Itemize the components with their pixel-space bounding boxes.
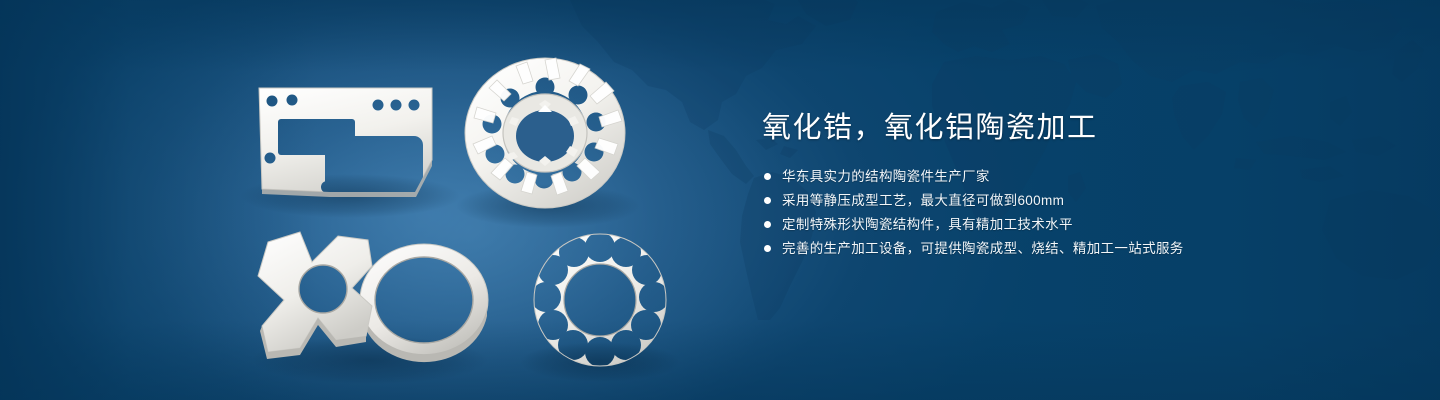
- page-title: 氧化锆，氧化铝陶瓷加工: [762, 108, 1382, 148]
- list-item: 完善的生产加工设备，可提供陶瓷成型、烧结、精加工一站式服务: [762, 237, 1382, 260]
- banner-copy: 氧化锆，氧化铝陶瓷加工 华东具实力的结构陶瓷件生产厂家 采用等静压成型工艺，最大…: [762, 108, 1382, 261]
- bullet-dot-icon: [764, 221, 771, 228]
- bullet-dot-icon: [764, 245, 771, 252]
- list-item: 定制特殊形状陶瓷结构件，具有精加工技术水平: [762, 213, 1382, 236]
- feature-list: 华东具实力的结构陶瓷件生产厂家 采用等静压成型工艺，最大直径可做到600mm 定…: [762, 165, 1382, 260]
- feature-text: 华东具实力的结构陶瓷件生产厂家: [782, 165, 990, 188]
- product-banner: 氧化锆，氧化铝陶瓷加工 华东具实力的结构陶瓷件生产厂家 采用等静压成型工艺，最大…: [0, 0, 1440, 400]
- list-item: 华东具实力的结构陶瓷件生产厂家: [762, 165, 1382, 188]
- bullet-dot-icon: [764, 173, 771, 180]
- feature-text: 定制特殊形状陶瓷结构件，具有精加工技术水平: [782, 213, 1073, 236]
- feature-text: 完善的生产加工设备，可提供陶瓷成型、烧结、精加工一站式服务: [782, 237, 1184, 260]
- bullet-dot-icon: [764, 197, 771, 204]
- list-item: 采用等静压成型工艺，最大直径可做到600mm: [762, 189, 1382, 212]
- feature-text: 采用等静压成型工艺，最大直径可做到600mm: [782, 189, 1064, 212]
